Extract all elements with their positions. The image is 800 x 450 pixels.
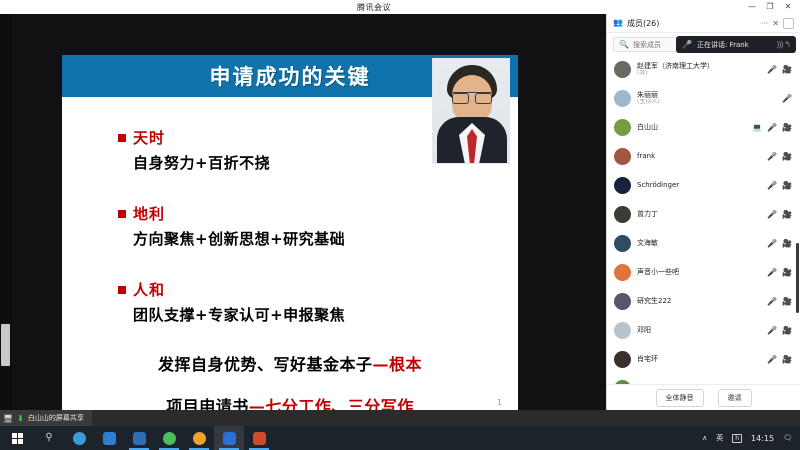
screen-share-label: 白山山的屏幕共享 bbox=[28, 413, 84, 423]
taskbar-item-chrome[interactable] bbox=[184, 426, 214, 450]
system-tray: ∧ 英 h 14:15 🗨 bbox=[702, 433, 800, 443]
bullet-head-text-3: 人和 bbox=[133, 279, 165, 300]
avatar bbox=[614, 264, 631, 281]
desktop-edge-chip bbox=[1, 324, 10, 366]
avatar bbox=[614, 119, 631, 136]
participant-controls[interactable]: 🎤 🎥 bbox=[767, 153, 792, 161]
participant-controls[interactable]: 🎤 bbox=[782, 95, 792, 103]
camera-off-icon[interactable]: 🎥 bbox=[782, 269, 792, 277]
window-controls: — ❐ ✕ bbox=[748, 0, 800, 14]
monitor-icon: 🖥 bbox=[3, 414, 13, 423]
taskbar-item-wechat-work[interactable] bbox=[124, 426, 154, 450]
cortana-icon bbox=[73, 432, 86, 445]
slide-bullet-2: 地利 方向聚焦+创新思想+研究基础 bbox=[118, 203, 518, 249]
mute-all-button[interactable]: 全体静音 bbox=[656, 389, 704, 407]
mic-off-icon[interactable]: 🎤 bbox=[767, 269, 777, 277]
camera-off-icon[interactable]: 🎥 bbox=[782, 356, 792, 364]
participant-names: 赵建军（济南理工大学） (我) bbox=[637, 62, 761, 77]
search-icon: ⚲ bbox=[45, 433, 52, 443]
avatar bbox=[614, 351, 631, 368]
avatar bbox=[614, 293, 631, 310]
window-titlebar: 腾讯会议 — ❐ ✕ bbox=[0, 0, 800, 14]
list-item[interactable]: Schrödinger 🎤 🎥 bbox=[607, 171, 800, 200]
people-icon: 👥 bbox=[613, 19, 623, 27]
slide-bullet-1: 天时 自身努力+百折不挠 bbox=[118, 127, 518, 173]
square-bullet-icon bbox=[118, 210, 126, 218]
close-button[interactable]: ✕ bbox=[784, 0, 792, 14]
bullet-head-3: 人和 bbox=[118, 279, 518, 300]
taskbar-item-search[interactable]: ⚲ bbox=[34, 426, 64, 450]
avatar bbox=[614, 235, 631, 252]
list-item[interactable]: frank 🎤 🎥 bbox=[607, 142, 800, 171]
participants-scrollbar[interactable] bbox=[796, 243, 799, 313]
participant-name: 肖宅环 bbox=[637, 355, 761, 363]
panel-close-button[interactable]: ✕ bbox=[772, 19, 779, 28]
conclusion-line1-black: 发挥自身优势、写好基金本子 bbox=[158, 355, 373, 374]
minimize-button[interactable]: — bbox=[748, 0, 756, 14]
tencent-meeting-icon bbox=[223, 432, 236, 445]
participant-name: 曾力丁 bbox=[637, 210, 761, 218]
participant-controls[interactable]: 🎤 🎥 bbox=[767, 356, 792, 364]
list-item[interactable]: 曾力丁 🎤 🎥 bbox=[607, 200, 800, 229]
participants-panel: 👥 成员(26) ··· ✕ 🔍 🎤 正在讲话: Frank ))) ↰ 赵建军… bbox=[606, 14, 800, 410]
participant-name: 朱丽丽 bbox=[637, 91, 776, 99]
store-icon bbox=[103, 432, 116, 445]
bullet-sub-text-1: 自身努力+百折不挠 bbox=[133, 152, 518, 173]
list-item[interactable]: 文海敏 🎤 🎥 bbox=[607, 229, 800, 258]
presentation-slide: 申请成功的关键 天时 自身努力+百折不挠 bbox=[62, 55, 518, 413]
mic-off-icon[interactable]: 🎤 bbox=[767, 298, 777, 306]
participant-names: 邓阳 bbox=[637, 326, 761, 334]
notification-icon[interactable]: 🗨 bbox=[783, 434, 792, 442]
participant-controls[interactable]: 🎤 🎥 bbox=[767, 327, 792, 335]
taskbar-item-wechat[interactable] bbox=[154, 426, 184, 450]
speaking-toast: 🎤 正在讲话: Frank ))) ↰ bbox=[676, 36, 796, 53]
participant-names: 朱丽丽 (主持人) bbox=[637, 91, 776, 106]
mic-off-icon[interactable]: 🎤 bbox=[767, 327, 777, 335]
screen-share-tag[interactable]: 🖥 ⬇ 白山山的屏幕共享 bbox=[0, 410, 92, 426]
bullet-head-text-2: 地利 bbox=[133, 203, 165, 224]
slide-page-number: 1 bbox=[497, 398, 502, 407]
ime-language-indicator[interactable]: 英 bbox=[716, 433, 723, 443]
participant-role: (主持人) bbox=[637, 99, 776, 106]
slide-bullet-3: 人和 团队支撑+专家认可+申报聚焦 bbox=[118, 279, 518, 325]
participant-controls[interactable]: 🎤 🎥 bbox=[767, 240, 792, 248]
slide-header: 申请成功的关键 bbox=[62, 55, 518, 97]
camera-off-icon[interactable]: 🎥 bbox=[782, 66, 792, 74]
slide-title: 申请成功的关键 bbox=[210, 61, 371, 91]
mic-off-icon[interactable]: 🎤 bbox=[767, 182, 777, 190]
list-item[interactable]: 朱丽丽 (主持人) 🎤 bbox=[607, 84, 800, 113]
list-item[interactable]: 声音小一些吧 🎤 🎥 bbox=[607, 258, 800, 287]
square-bullet-icon bbox=[118, 286, 126, 294]
slide-body: 天时 自身努力+百折不挠 地利 方向聚焦+创新思想+研究基础 人和 团队支撑+专… bbox=[62, 97, 518, 413]
panel-dock-button[interactable] bbox=[783, 18, 794, 29]
participant-controls[interactable]: 🎤 🎥 bbox=[767, 66, 792, 74]
avatar bbox=[614, 380, 631, 384]
taskbar-item-tencent-meeting[interactable] bbox=[214, 426, 244, 450]
avatar bbox=[614, 90, 631, 107]
avatar bbox=[614, 61, 631, 78]
wechat-icon bbox=[163, 432, 176, 445]
participant-controls[interactable]: 🎤 🎥 bbox=[767, 269, 792, 277]
avatar bbox=[614, 322, 631, 339]
participant-name: 研究生222 bbox=[637, 297, 761, 305]
participant-name: 文海敏 bbox=[637, 239, 761, 247]
participant-names: 声音小一些吧 bbox=[637, 268, 761, 276]
panel-more-button[interactable]: ··· bbox=[761, 19, 769, 28]
camera-off-icon[interactable]: 🎥 bbox=[782, 298, 792, 306]
list-item[interactable]: 研究生222 🎤 🎥 bbox=[607, 287, 800, 316]
mic-on-icon[interactable]: 🎤 bbox=[767, 124, 777, 132]
participant-names: 研究生222 bbox=[637, 297, 761, 305]
participant-name: 邓阳 bbox=[637, 326, 761, 334]
participants-panel-footer: 全体静音 邀请 bbox=[607, 384, 800, 410]
participant-name: frank bbox=[637, 152, 761, 160]
participant-controls[interactable]: 💻 🎤 🎥 bbox=[752, 124, 792, 132]
participant-name: 声音小一些吧 bbox=[637, 268, 761, 276]
bullet-head-text-1: 天时 bbox=[133, 127, 165, 148]
windows-start-icon bbox=[12, 433, 23, 444]
square-bullet-icon bbox=[118, 134, 126, 142]
camera-off-icon[interactable]: 🎥 bbox=[782, 153, 792, 161]
participant-names: frank bbox=[637, 152, 761, 160]
wechat-work-icon bbox=[133, 432, 146, 445]
avatar bbox=[614, 148, 631, 165]
participants-list[interactable]: 赵建军（济南理工大学） (我) 🎤 🎥 朱丽丽 (主持人) 🎤 白山山 bbox=[607, 55, 800, 384]
screen-share-bar: 🖥 ⬇ 白山山的屏幕共享 bbox=[0, 410, 800, 426]
participant-names: 肖宅环 bbox=[637, 355, 761, 363]
participant-controls[interactable]: 🎤 🎥 bbox=[767, 182, 792, 190]
conclusion-line1-red: —根本 bbox=[373, 355, 423, 374]
taskbar-clock[interactable]: 14:15 bbox=[751, 434, 774, 443]
list-item[interactable]: 樊云飞 🎤 🎥 bbox=[607, 374, 800, 384]
participant-name: Schrödinger bbox=[637, 181, 761, 189]
mic-off-icon[interactable]: 🎤 bbox=[782, 95, 792, 103]
screen-share-icon[interactable]: 💻 bbox=[752, 124, 762, 132]
participant-names: 白山山 bbox=[637, 123, 746, 131]
list-item[interactable]: 白山山 💻 🎤 🎥 bbox=[607, 113, 800, 142]
windows-taskbar: ⚲ ∧ 英 h 14:15 🗨 bbox=[0, 426, 800, 450]
speaking-toast-text: 正在讲话: Frank bbox=[697, 40, 749, 50]
camera-off-icon[interactable]: 🎥 bbox=[782, 211, 792, 219]
chrome-icon bbox=[193, 432, 206, 445]
download-arrow-icon: ⬇ bbox=[17, 414, 24, 423]
participant-controls[interactable]: 🎤 🎥 bbox=[767, 298, 792, 306]
list-item[interactable]: 邓阳 🎤 🎥 bbox=[607, 316, 800, 345]
taskbar-item-cortana[interactable] bbox=[64, 426, 94, 450]
participant-role: (我) bbox=[637, 70, 761, 77]
camera-off-icon[interactable]: 🎥 bbox=[782, 327, 792, 335]
avatar bbox=[614, 177, 631, 194]
shared-desktop-left-edge bbox=[0, 14, 12, 410]
participants-panel-header: 👥 成员(26) ··· ✕ bbox=[607, 14, 800, 33]
mic-off-icon[interactable]: 🎤 bbox=[767, 66, 777, 74]
participant-names: 曾力丁 bbox=[637, 210, 761, 218]
participant-name: 白山山 bbox=[637, 123, 746, 131]
slide-conclusion: 发挥自身优势、写好基金本子—根本 项目申请书—七分工作、三分写作 bbox=[62, 351, 518, 417]
participant-names: 文海敏 bbox=[637, 239, 761, 247]
participants-panel-title: 成员(26) bbox=[627, 18, 757, 29]
list-item[interactable]: 肖宅环 🎤 🎥 bbox=[607, 345, 800, 374]
window-title: 腾讯会议 bbox=[0, 2, 748, 13]
sound-wave-icon: ))) ↰ bbox=[776, 40, 790, 49]
participant-name: 赵建军（济南理工大学） bbox=[637, 62, 761, 70]
camera-off-icon[interactable]: 🎥 bbox=[782, 182, 792, 190]
participant-names: Schrödinger bbox=[637, 181, 761, 189]
bullet-head-1: 天时 bbox=[118, 127, 518, 148]
mic-off-icon[interactable]: 🎤 bbox=[767, 356, 777, 364]
avatar bbox=[614, 206, 631, 223]
maximize-button[interactable]: ❐ bbox=[766, 0, 774, 14]
mic-muted-icon: 🎤 bbox=[682, 40, 692, 49]
ppt-icon bbox=[253, 432, 266, 445]
participant-controls[interactable]: 🎤 🎥 bbox=[767, 211, 792, 219]
taskbar-item-powerpoint[interactable] bbox=[244, 426, 274, 450]
mic-off-icon[interactable]: 🎤 bbox=[767, 240, 777, 248]
bullet-sub-text-2: 方向聚焦+创新思想+研究基础 bbox=[133, 228, 518, 249]
mic-off-icon[interactable]: 🎤 bbox=[767, 211, 777, 219]
mic-off-icon[interactable]: 🎤 bbox=[767, 153, 777, 161]
ime-mode-box[interactable]: h bbox=[732, 434, 742, 443]
list-item[interactable]: 赵建军（济南理工大学） (我) 🎤 🎥 bbox=[607, 55, 800, 84]
shared-screen-stage[interactable]: 申请成功的关键 天时 自身努力+百折不挠 bbox=[0, 14, 606, 410]
tray-chevron-icon[interactable]: ∧ bbox=[702, 434, 707, 442]
camera-on-icon[interactable]: 🎥 bbox=[782, 124, 792, 132]
taskbar-item-store[interactable] bbox=[94, 426, 124, 450]
bullet-sub-text-3: 团队支撑+专家认可+申报聚焦 bbox=[133, 304, 518, 325]
search-icon: 🔍 bbox=[619, 41, 629, 49]
participants-search-area: 🔍 🎤 正在讲话: Frank ))) ↰ bbox=[607, 33, 800, 55]
invite-button[interactable]: 邀请 bbox=[718, 389, 752, 407]
camera-off-icon[interactable]: 🎥 bbox=[782, 240, 792, 248]
start-button[interactable] bbox=[0, 433, 34, 444]
bullet-head-2: 地利 bbox=[118, 203, 518, 224]
